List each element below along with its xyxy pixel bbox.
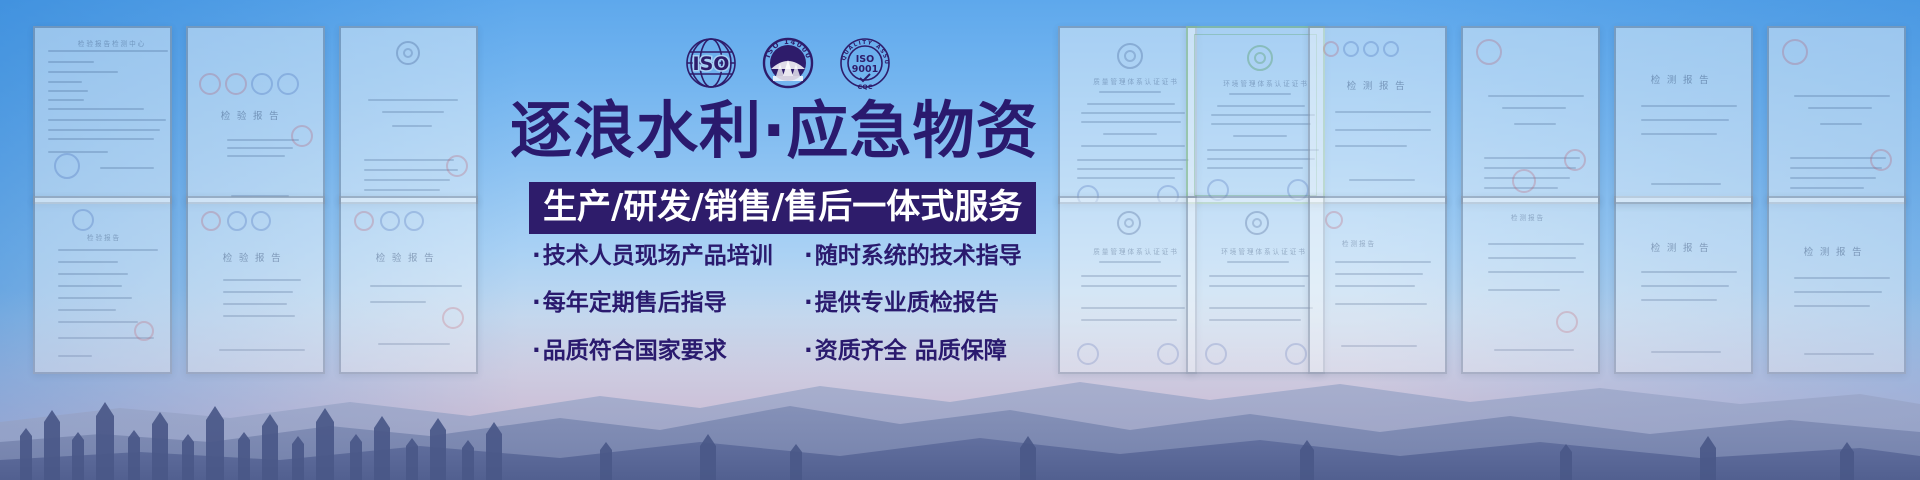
certificate-thumbnail [339,26,478,204]
feature-item: ·提供专业质检报告 [804,291,1078,316]
page-title: 逐浪水利·应急物资 [510,100,1039,162]
feature-label: 提供专业质检报告 [815,290,999,316]
svg-text:ISO: ISO [693,53,730,75]
feature-list: ·技术人员现场产品培训 ·随时系统的技术指导 ·每年定期售后指导 ·提供专业质检… [532,244,1078,364]
bullet-icon: · [532,243,541,269]
promo-banner: 检验报告检测中心 检验报告 [0,0,1920,480]
certificate-thumbnail: 检测报告 [1614,26,1753,204]
certificate-thumbnail [1767,26,1906,204]
bullet-icon: · [532,290,541,316]
feature-label: 品质符合国家要求 [543,338,727,364]
bullet-icon: · [804,243,813,269]
feature-label: 每年定期售后指导 [543,290,727,316]
iso-9001-cqc-logo: QUALITY ASSURANCE ISO 9001 CQC [838,36,892,90]
feature-item: ·资质齐全 品质保障 [804,339,1078,364]
certificate-thumbnail: 质量管理体系认证证书 [1058,26,1197,204]
iso-globe-logo: ISO [684,36,738,90]
feature-item: ·随时系统的技术指导 [804,244,1078,269]
bullet-icon: · [804,338,813,364]
iso-14000-logo: ISO 14000 环境认证 [761,36,815,90]
feature-item: ·品质符合国家要求 [532,339,804,364]
certificate-thumbnail: 检验报告 [186,26,325,204]
bullet-icon: · [532,338,541,364]
subtitle-bar: 生产/研发/销售/售后一体式服务 [529,182,1036,234]
certificate-thumbnail: 检测报告 [1308,26,1447,204]
certificate-thumbnail: 检验报告检测中心 [33,26,172,204]
certificate-thumbnail [1461,26,1600,204]
bullet-icon: · [804,290,813,316]
feature-label: 随时系统的技术指导 [815,243,1022,269]
banner-content: ISO ISO 14000 环境认证 [506,0,1076,480]
svg-text:9001: 9001 [852,64,878,75]
feature-item: ·技术人员现场产品培训 [532,244,804,269]
feature-label: 技术人员现场产品培训 [543,243,773,269]
svg-text:CQC: CQC [857,83,872,90]
certificate-thumbnail: 环境管理体系认证证书 [1186,26,1325,204]
feature-label: 资质齐全 品质保障 [815,338,1007,364]
certification-logo-row: ISO ISO 14000 环境认证 [684,36,892,90]
subtitle-text: 生产/研发/销售/售后一体式服务 [543,187,1022,227]
feature-item: ·每年定期售后指导 [532,291,804,316]
